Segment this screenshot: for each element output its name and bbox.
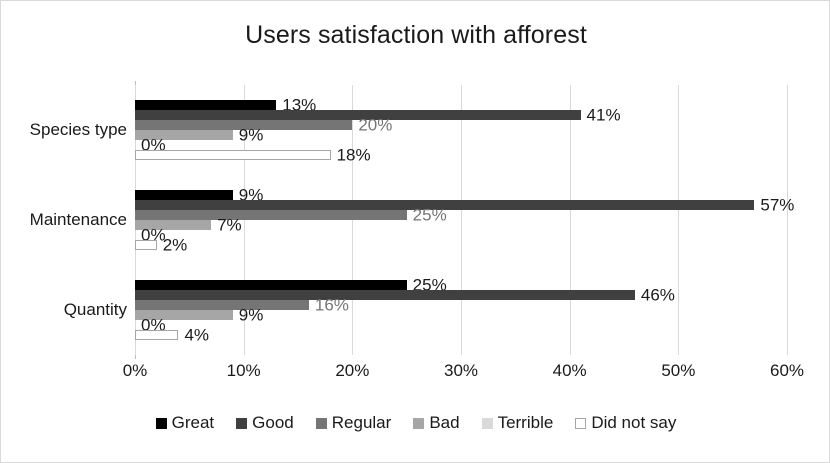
bar-great[interactable] <box>135 100 276 110</box>
legend-item-bad[interactable]: Bad <box>413 413 459 433</box>
legend-swatch-icon <box>575 418 586 429</box>
y-axis-label-maintenance: Maintenance <box>1 210 127 230</box>
gridline-60 <box>787 85 788 355</box>
bar-value-label: 4% <box>184 327 209 344</box>
bar-did-not-say[interactable] <box>135 240 157 250</box>
bar-row: 25% <box>135 280 787 290</box>
bar-value-label: 2% <box>163 237 188 254</box>
bar-row: 2% <box>135 240 787 250</box>
legend-item-regular[interactable]: Regular <box>316 413 392 433</box>
x-axis-tick-labels: 0%10%20%30%40%50%60% <box>135 361 787 385</box>
bar-row: 41% <box>135 110 787 120</box>
legend-label: Great <box>172 413 215 433</box>
legend-label: Did not say <box>591 413 676 433</box>
bar-did-not-say[interactable] <box>135 150 331 160</box>
bar-row: 20% <box>135 120 787 130</box>
y-axis-category-labels: Species typeMaintenanceQuantity <box>1 85 127 355</box>
chart-legend: GreatGoodRegularBadTerribleDid not say <box>1 413 830 433</box>
x-axis-tick-label: 30% <box>444 361 478 381</box>
legend-label: Good <box>252 413 294 433</box>
legend-item-good[interactable]: Good <box>236 413 294 433</box>
legend-item-did-not-say[interactable]: Did not say <box>575 413 676 433</box>
legend-item-great[interactable]: Great <box>156 413 215 433</box>
legend-swatch-icon <box>156 418 167 429</box>
bar-good[interactable] <box>135 290 635 300</box>
bar-row: 57% <box>135 200 787 210</box>
bar-row: 7% <box>135 220 787 230</box>
bar-great[interactable] <box>135 280 407 290</box>
bar-group: 9%57%25%7%0%2% <box>135 190 787 250</box>
bar-row: 46% <box>135 290 787 300</box>
bar-row: 0% <box>135 230 787 240</box>
bar-row: 16% <box>135 300 787 310</box>
legend-label: Regular <box>332 413 392 433</box>
legend-label: Terrible <box>498 413 554 433</box>
x-axis-tick-label: 60% <box>770 361 804 381</box>
bar-row: 9% <box>135 130 787 140</box>
bar-group: 25%46%16%9%0%4% <box>135 280 787 340</box>
x-axis-tick-label: 20% <box>335 361 369 381</box>
bar-group: 13%41%20%9%0%18% <box>135 100 787 160</box>
legend-swatch-icon <box>413 418 424 429</box>
bar-did-not-say[interactable] <box>135 330 178 340</box>
bar-row: 13% <box>135 100 787 110</box>
bar-row: 9% <box>135 190 787 200</box>
legend-item-terrible[interactable]: Terrible <box>482 413 554 433</box>
y-axis-label-species-type: Species type <box>1 120 127 140</box>
bar-row: 18% <box>135 150 787 160</box>
bar-row: 0% <box>135 140 787 150</box>
bar-regular[interactable] <box>135 210 407 220</box>
plot-area: 13%41%20%9%0%18%9%57%25%7%0%2%25%46%16%9… <box>135 85 787 355</box>
legend-label: Bad <box>429 413 459 433</box>
x-axis-tick-label: 10% <box>227 361 261 381</box>
bar-great[interactable] <box>135 190 233 200</box>
x-axis-tick-label: 40% <box>553 361 587 381</box>
legend-swatch-icon <box>482 418 493 429</box>
chart-title: Users satisfaction with afforest <box>1 21 830 50</box>
legend-swatch-icon <box>316 418 327 429</box>
bar-row: 9% <box>135 310 787 320</box>
x-axis-tick-label: 50% <box>661 361 695 381</box>
bar-row: 4% <box>135 330 787 340</box>
legend-swatch-icon <box>236 418 247 429</box>
bar-row: 0% <box>135 320 787 330</box>
x-axis-tick-label: 0% <box>123 361 148 381</box>
chart-container: Users satisfaction with afforest Species… <box>0 0 830 463</box>
bar-value-label: 18% <box>337 147 371 164</box>
y-axis-label-quantity: Quantity <box>1 300 127 320</box>
bar-regular[interactable] <box>135 300 309 310</box>
